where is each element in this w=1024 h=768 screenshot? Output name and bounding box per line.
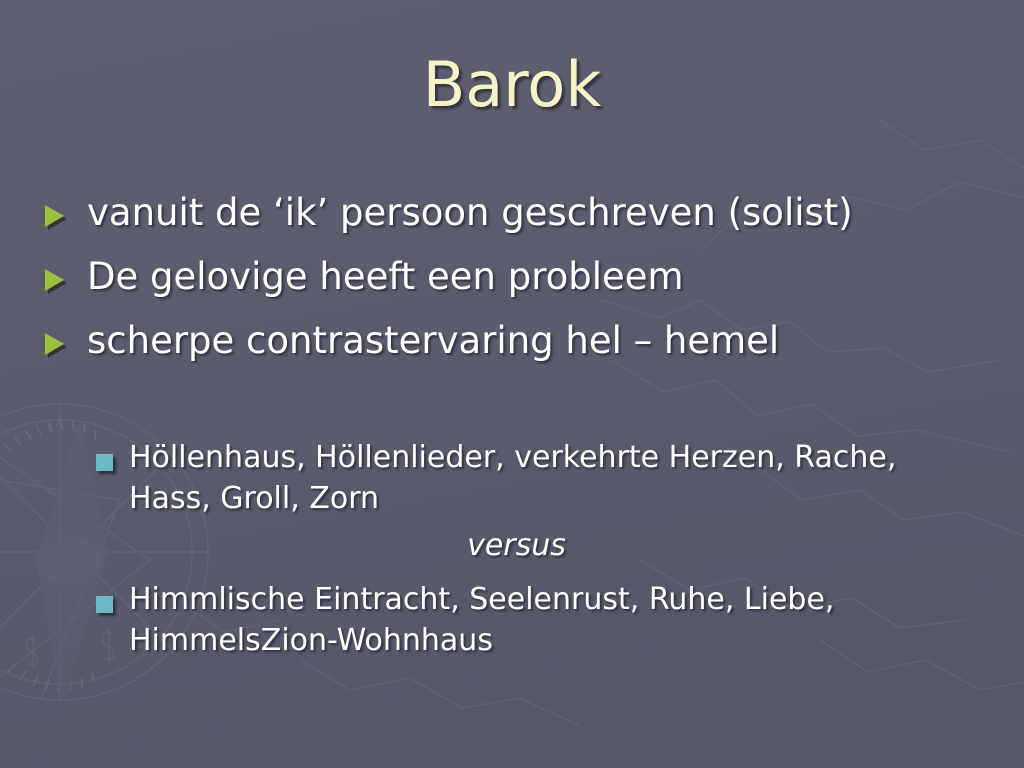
list-item: Himmlische Eintracht, Seelenrust, Ruhe, … [96,580,996,662]
level2-bullet-text: Himmlische Eintracht, Seelenrust, Ruhe, … [129,580,969,662]
level1-bullet-text: scherpe contrastervaring hel – hemel [87,318,779,365]
level2-bullet-list: Höllenhaus, Höllenlieder, verkehrte Herz… [96,438,996,668]
level1-bullet-text: vanuit de ‘ik’ persoon geschreven (solis… [87,190,853,237]
square-bullet-icon [96,596,113,613]
list-item: vanuit de ‘ik’ persoon geschreven (solis… [44,190,984,244]
square-bullet-icon [96,454,113,471]
triangle-bullet-icon [44,269,70,295]
level1-bullet-text: De gelovige heeft een probleem [87,254,684,301]
triangle-bullet-icon [44,333,70,359]
presentation-slide: Barok vanuit de ‘ik’ persoon geschreven … [0,0,1024,768]
versus-separator: versus [129,526,904,567]
level1-bullet-list: vanuit de ‘ik’ persoon geschreven (solis… [44,190,984,382]
list-item: De gelovige heeft een probleem [44,254,984,308]
triangle-bullet-icon [44,205,70,231]
slide-title: Barok [0,52,1024,117]
list-item: Höllenhaus, Höllenlieder, verkehrte Herz… [96,438,996,520]
level2-bullet-text: Höllenhaus, Höllenlieder, verkehrte Herz… [129,438,969,520]
list-item: scherpe contrastervaring hel – hemel [44,318,984,372]
